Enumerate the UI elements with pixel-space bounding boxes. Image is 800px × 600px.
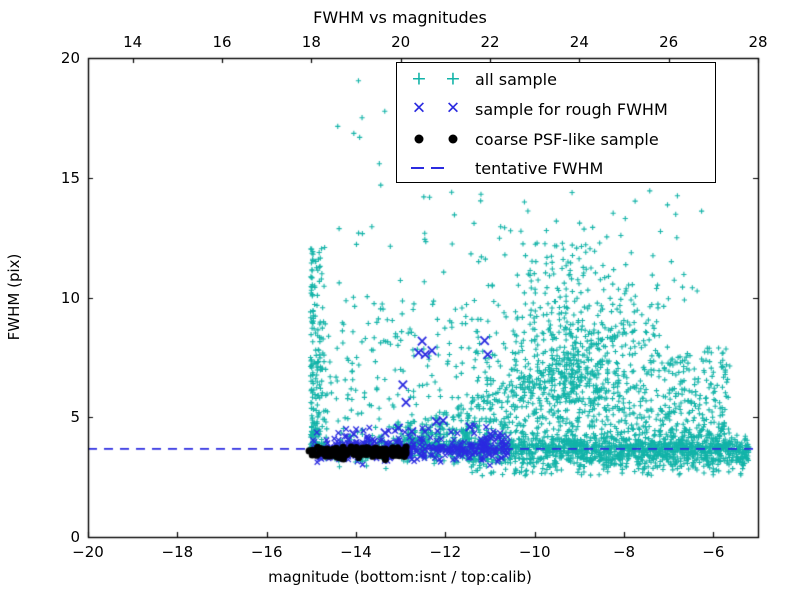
x-axis-label: magnitude (bottom:isnt / top:calib) xyxy=(0,568,800,586)
legend-marker-tentative-fwhm xyxy=(397,153,475,183)
x-tick-label: −16 xyxy=(251,543,283,561)
dashed-line-icon xyxy=(431,167,444,169)
x-tick-label: −6 xyxy=(702,543,724,561)
dot-icon xyxy=(415,135,424,144)
y-axis-label: FWHM (pix) xyxy=(5,254,23,341)
dot-icon xyxy=(449,135,458,144)
x-tick-label: −14 xyxy=(340,543,372,561)
x-tick-label-top: 18 xyxy=(302,33,321,51)
legend-label-psf-sample: coarse PSF-like sample xyxy=(475,130,659,149)
x-tick-label: −12 xyxy=(430,543,462,561)
x-tick-label-top: 28 xyxy=(748,33,767,51)
legend-item-tentative-fwhm: tentative FWHM xyxy=(397,153,715,183)
x-tick-label-top: 22 xyxy=(480,33,499,51)
legend-label-rough-fwhm: sample for rough FWHM xyxy=(475,100,668,119)
y-tick-label: 15 xyxy=(61,169,80,187)
x-tick-label: −8 xyxy=(613,543,635,561)
legend: + + all sample ✕ ✕ sample for rough FWHM… xyxy=(396,62,716,183)
legend-item-all-sample: + + all sample xyxy=(397,64,715,94)
legend-label-tentative-fwhm: tentative FWHM xyxy=(475,159,603,178)
x-tick-label: −10 xyxy=(519,543,551,561)
y-tick-label: 0 xyxy=(70,528,80,546)
x-tick-label-top: 20 xyxy=(391,33,410,51)
x-tick-label: −18 xyxy=(162,543,194,561)
page-title: FWHM vs magnitudes xyxy=(0,8,800,27)
x-mark-icon: ✕ xyxy=(446,101,460,118)
legend-item-psf-sample: coarse PSF-like sample xyxy=(397,124,715,154)
legend-marker-psf-sample xyxy=(397,124,475,154)
x-tick-label-top: 26 xyxy=(659,33,678,51)
legend-item-rough-fwhm: ✕ ✕ sample for rough FWHM xyxy=(397,94,715,124)
x-tick-label-top: 16 xyxy=(212,33,231,51)
plus-icon: + xyxy=(411,70,427,89)
y-tick-label: 20 xyxy=(61,49,80,67)
x-tick-label-top: 14 xyxy=(123,33,142,51)
figure-container: FWHM vs magnitudes magnitude (bottom:isn… xyxy=(0,0,800,600)
plus-icon: + xyxy=(445,70,461,89)
legend-label-all-sample: all sample xyxy=(475,70,557,89)
legend-marker-rough-fwhm: ✕ ✕ xyxy=(397,94,475,124)
legend-marker-all-sample: + + xyxy=(397,64,475,94)
x-tick-label-top: 24 xyxy=(570,33,589,51)
y-tick-label: 10 xyxy=(61,289,80,307)
x-mark-icon: ✕ xyxy=(412,101,426,118)
dashed-line-icon xyxy=(411,167,424,169)
y-tick-label: 5 xyxy=(70,408,80,426)
